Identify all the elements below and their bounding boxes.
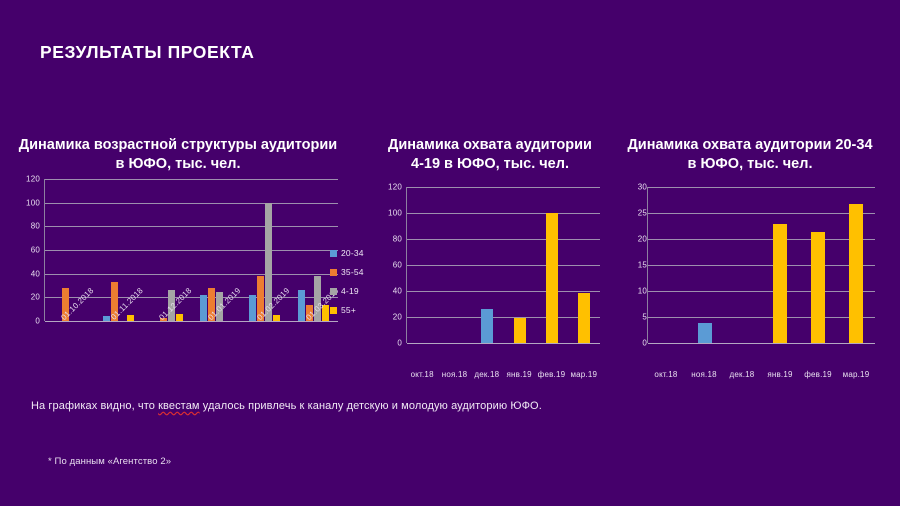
chart-title-reach-4-19: Динамика охвата аудитории 4-19 в ЮФО, ты…: [380, 136, 600, 173]
x-tick-label: окт.18: [654, 370, 677, 379]
x-axis-cell: янв.19: [503, 370, 535, 379]
legend-swatch-icon: [330, 250, 337, 257]
legend-swatch-icon: [330, 288, 337, 295]
legend-label: 35-54: [341, 267, 364, 277]
x-axis-cell: окт.18: [406, 370, 438, 379]
x-axis-reach-20-34: окт.18ноя.18дек.18янв.19фев.19мар.19: [647, 370, 875, 379]
bar: [849, 204, 863, 343]
bar-group: [407, 187, 439, 343]
bar: [773, 224, 787, 344]
x-tick-label: мар.19: [843, 370, 870, 379]
page-title: РЕЗУЛЬТАТЫ ПРОЕКТА: [40, 42, 254, 63]
bar-group: [686, 187, 724, 343]
y-tick-label: 40: [393, 287, 402, 296]
y-axis-reach-4-19: 020406080100120: [380, 187, 406, 343]
plot-area-reach-4-19: 020406080100120: [380, 187, 600, 343]
bar-series-reach-4-19: [407, 187, 600, 343]
bar-group: [724, 187, 762, 343]
summary-text-misspelled-word: квестам: [158, 400, 199, 412]
x-tick-label: ноя.18: [691, 370, 717, 379]
legend-item[interactable]: 55+: [330, 305, 364, 315]
y-tick-label: 80: [31, 222, 40, 231]
bar: [546, 213, 558, 343]
bar-group: [568, 187, 600, 343]
y-tick-label: 25: [638, 209, 647, 218]
bar-group: [439, 187, 471, 343]
chart-panel-age-structure: Динамика возрастной структуры аудитории …: [18, 136, 338, 321]
y-tick-label: 80: [393, 235, 402, 244]
x-axis-cell: ноя.18: [438, 370, 470, 379]
x-tick-label: окт.18: [411, 370, 434, 379]
bar-group: [837, 187, 875, 343]
summary-text-part-2: удалось привлечь к каналу детскую и моло…: [200, 400, 542, 412]
bar: [481, 309, 493, 343]
y-tick-label: 15: [638, 261, 647, 270]
bar-group: [761, 187, 799, 343]
chart-panel-reach-20-34: Динамика охвата аудитории 20-34 в ЮФО, т…: [625, 136, 875, 343]
bar: [514, 318, 526, 343]
x-axis-cell: фев.19: [799, 370, 837, 379]
legend-item[interactable]: 35-54: [330, 267, 364, 277]
bar-group: [648, 187, 686, 343]
y-tick-label: 100: [26, 198, 40, 207]
chart-title-reach-20-34: Динамика охвата аудитории 20-34 в ЮФО, т…: [625, 136, 875, 173]
legend-item[interactable]: 20-34: [330, 248, 364, 258]
y-tick-label: 20: [638, 235, 647, 244]
legend-item[interactable]: 4-19: [330, 286, 364, 296]
chart-legend: 20-3435-544-1955+: [330, 248, 364, 324]
y-tick-label: 120: [388, 183, 402, 192]
x-axis-cell: дек.18: [723, 370, 761, 379]
bar-series-reach-20-34: [648, 187, 875, 343]
x-tick-label: фев.19: [804, 370, 832, 379]
chart-panel-reach-4-19: Динамика охвата аудитории 4-19 в ЮФО, ты…: [380, 136, 600, 343]
x-axis-cell: ноя.18: [685, 370, 723, 379]
x-tick-label: дек.18: [474, 370, 499, 379]
legend-swatch-icon: [330, 307, 337, 314]
x-tick-label: мар.19: [570, 370, 597, 379]
legend-label: 55+: [341, 305, 356, 315]
slide-canvas: РЕЗУЛЬТАТЫ ПРОЕКТА Динамика возрастной с…: [0, 0, 900, 506]
y-tick-label: 10: [638, 287, 647, 296]
bar-group: [504, 187, 536, 343]
bar-group: [471, 187, 503, 343]
y-tick-label: 30: [638, 183, 647, 192]
bar-group: [799, 187, 837, 343]
legend-label: 20-34: [341, 248, 364, 258]
legend-swatch-icon: [330, 269, 337, 276]
bar: [698, 323, 712, 343]
y-tick-label: 120: [26, 175, 40, 184]
legend-label: 4-19: [341, 286, 359, 296]
bar: [811, 232, 825, 343]
x-axis-cell: мар.19: [568, 370, 600, 379]
y-tick-label: 0: [397, 339, 402, 348]
x-axis-age-structure: 01.10.201801.11.201801.12.201801.01.2019…: [44, 286, 338, 330]
y-tick-label: 100: [388, 209, 402, 218]
x-axis-cell: мар.19: [837, 370, 875, 379]
x-axis-cell: фев.19: [535, 370, 567, 379]
plot-area-reach-20-34: 051015202530: [625, 187, 875, 343]
x-axis-cell: окт.18: [647, 370, 685, 379]
y-axis-age-structure: 020406080100120: [18, 179, 44, 321]
x-tick-label: ноя.18: [442, 370, 468, 379]
plot-canvas-reach-4-19: [406, 187, 600, 343]
y-tick-label: 60: [31, 246, 40, 255]
x-tick-label: фев.19: [538, 370, 566, 379]
x-axis-cell: дек.18: [471, 370, 503, 379]
x-axis-cell: янв.19: [761, 370, 799, 379]
chart-title-age-structure: Динамика возрастной структуры аудитории …: [18, 136, 338, 173]
x-tick-label: дек.18: [730, 370, 755, 379]
source-footnote: * По данным «Агентство 2»: [48, 456, 171, 467]
gridline: [407, 343, 600, 344]
x-tick-label: янв.19: [506, 370, 531, 379]
x-axis-reach-4-19: окт.18ноя.18дек.18янв.19фев.19мар.19: [406, 370, 600, 379]
x-axis-cell: 01.10.2018: [44, 286, 93, 330]
gridline: [648, 343, 875, 344]
summary-text: На графиках видно, что квестам удалось п…: [31, 400, 542, 412]
summary-text-part-1: На графиках видно, что: [31, 400, 158, 412]
y-tick-label: 60: [393, 261, 402, 270]
bar: [578, 293, 590, 343]
y-tick-label: 40: [31, 269, 40, 278]
x-tick-label: янв.19: [767, 370, 792, 379]
plot-canvas-reach-20-34: [647, 187, 875, 343]
y-tick-label: 20: [31, 293, 40, 302]
bar-group: [536, 187, 568, 343]
y-tick-label: 20: [393, 313, 402, 322]
y-tick-label: 0: [35, 317, 40, 326]
